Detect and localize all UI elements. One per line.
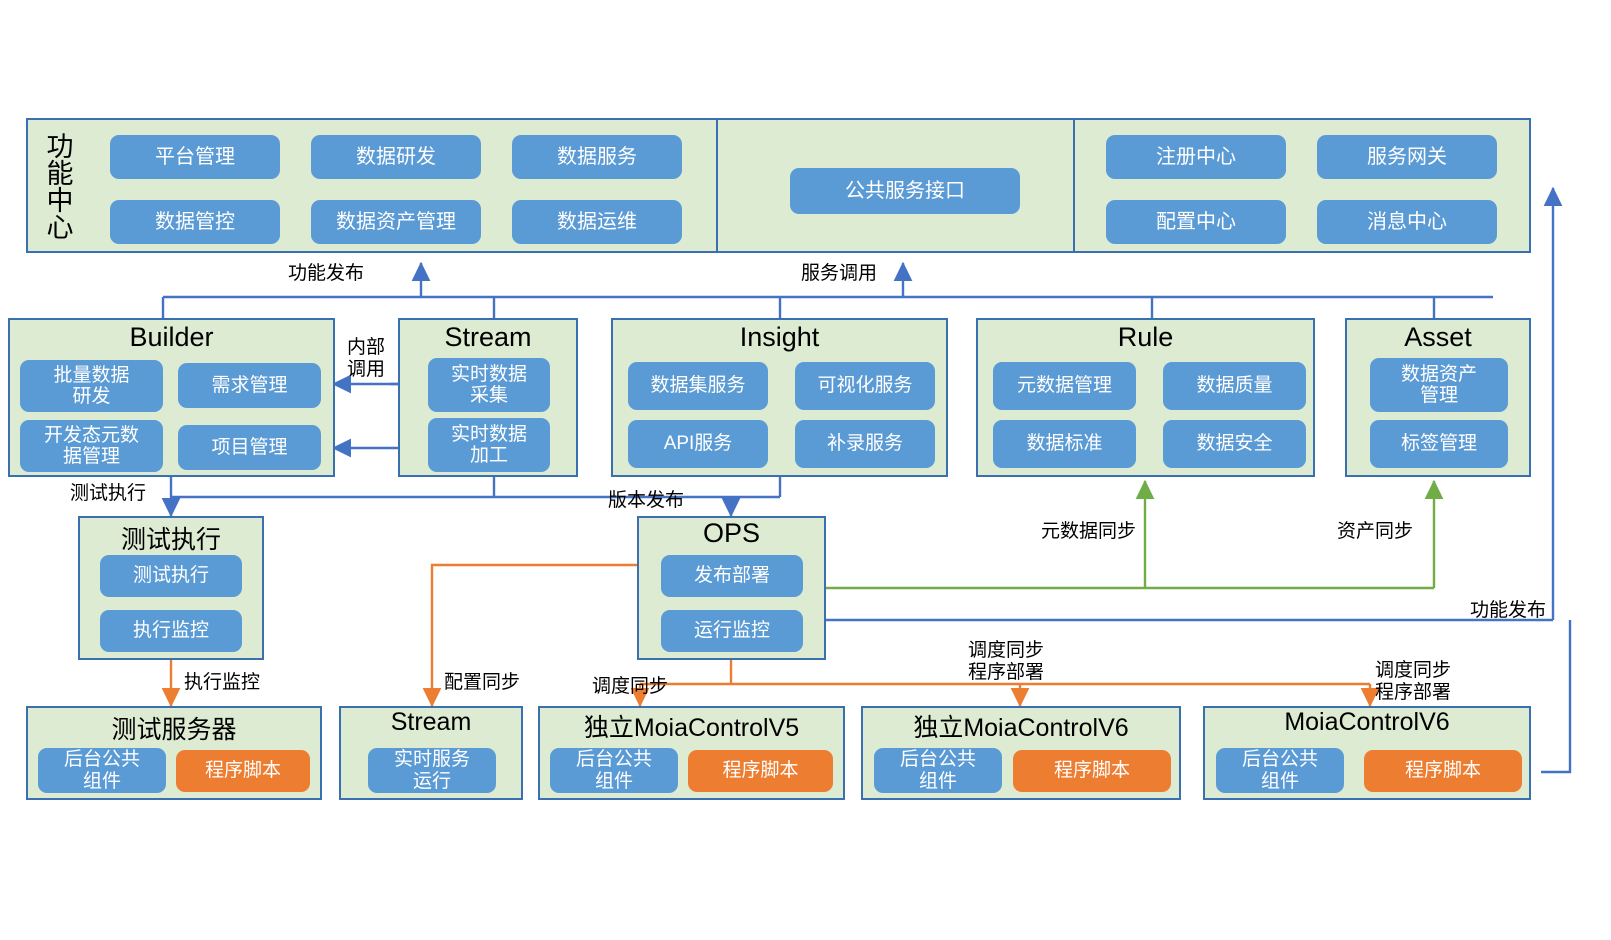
label-schedule-deploy-right: 调度同步 程序部署 [1375, 660, 1451, 705]
ops-chip-release-deploy[interactable]: 发布部署 [661, 555, 803, 597]
label-schedule-sync: 调度同步 [592, 676, 668, 698]
v6s-chip-program-script[interactable]: 程序脚本 [1013, 750, 1171, 792]
insight-chip-dataset-service[interactable]: 数据集服务 [628, 362, 768, 410]
builder-chip-project-mgmt[interactable]: 项目管理 [178, 425, 321, 470]
builder-chip-batch-data-dev[interactable]: 批量数据 研发 [20, 360, 163, 412]
builder-chip-dev-metadata-mgmt[interactable]: 开发态元数 据管理 [20, 420, 163, 472]
band-divider-1 [716, 120, 718, 251]
fc-chip-data-service[interactable]: 数据服务 [512, 135, 682, 179]
label-config-sync: 配置同步 [444, 672, 520, 694]
v5-chip-backend-common[interactable]: 后台公共 组件 [550, 748, 678, 793]
fc-chip-data-dev[interactable]: 数据研发 [311, 135, 481, 179]
test-exec-chip-test-execution[interactable]: 测试执行 [100, 555, 242, 597]
rule-chip-data-standard[interactable]: 数据标准 [993, 420, 1136, 468]
fc-chip-data-control[interactable]: 数据管控 [110, 200, 280, 244]
function-center-side-title: 功 能 中 心 [36, 124, 84, 251]
fc-chip-registry-center[interactable]: 注册中心 [1106, 135, 1286, 179]
builder-chip-requirement-mgmt[interactable]: 需求管理 [178, 363, 321, 408]
platform-insight-title: Insight [611, 322, 948, 353]
architecture-diagram: 功 能 中 心 平台管理 数据研发 数据服务 数据管控 数据资产管理 数据运维 … [0, 0, 1611, 940]
server-standalone-moiacontrolv5-title: 独立MoiaControlV5 [538, 708, 845, 744]
asset-chip-tag-mgmt[interactable]: 标签管理 [1370, 420, 1508, 468]
platform-rule-title: Rule [976, 322, 1315, 353]
stream-server-chip-realtime-service[interactable]: 实时服务 运行 [368, 748, 496, 793]
label-internal-call: 内部 调用 [339, 337, 393, 382]
platform-builder-title: Builder [8, 322, 335, 353]
label-service-call: 服务调用 [801, 263, 877, 285]
block-test-execution-title: 测试执行 [78, 520, 264, 556]
label-function-publish-right: 功能发布 [1470, 600, 1546, 622]
test-server-chip-program-script[interactable]: 程序脚本 [176, 750, 310, 792]
fc-chip-data-asset-mgmt[interactable]: 数据资产管理 [311, 200, 481, 244]
label-metadata-sync: 元数据同步 [1041, 521, 1136, 543]
v6-chip-backend-common[interactable]: 后台公共 组件 [1216, 748, 1344, 793]
label-exec-monitor-edge: 执行监控 [184, 672, 260, 694]
platform-stream-title: Stream [398, 322, 578, 353]
fc-char-4: 心 [47, 215, 74, 242]
stream-chip-realtime-process[interactable]: 实时数据 加工 [428, 418, 550, 472]
stream-chip-realtime-collect[interactable]: 实时数据 采集 [428, 358, 550, 412]
platform-asset-title: Asset [1345, 322, 1531, 353]
v6s-chip-backend-common[interactable]: 后台公共 组件 [874, 748, 1002, 793]
fc-chip-platform-mgmt[interactable]: 平台管理 [110, 135, 280, 179]
server-test-server-title: 测试服务器 [26, 710, 322, 746]
test-server-chip-backend-common[interactable]: 后台公共 组件 [38, 748, 166, 793]
fc-chip-data-ops[interactable]: 数据运维 [512, 200, 682, 244]
asset-chip-data-asset-mgmt[interactable]: 数据资产 管理 [1370, 358, 1508, 412]
label-schedule-deploy-mid: 调度同步 程序部署 [968, 640, 1044, 685]
fc-chip-config-center[interactable]: 配置中心 [1106, 200, 1286, 244]
test-exec-chip-exec-monitor[interactable]: 执行监控 [100, 610, 242, 652]
fc-chip-public-service-api[interactable]: 公共服务接口 [790, 168, 1020, 214]
label-test-execution-edge: 测试执行 [70, 483, 146, 505]
label-asset-sync: 资产同步 [1337, 521, 1413, 543]
insight-chip-visualization-service[interactable]: 可视化服务 [795, 362, 935, 410]
label-function-publish-top: 功能发布 [288, 263, 364, 285]
insight-chip-api-service[interactable]: API服务 [628, 420, 768, 468]
rule-chip-metadata-mgmt[interactable]: 元数据管理 [993, 362, 1136, 410]
server-moiacontrolv6-title: MoiaControlV6 [1203, 708, 1531, 737]
label-version-publish: 版本发布 [608, 490, 684, 512]
rule-chip-data-quality[interactable]: 数据质量 [1163, 362, 1306, 410]
band-divider-2 [1073, 120, 1075, 251]
fc-chip-service-gateway[interactable]: 服务网关 [1317, 135, 1497, 179]
server-stream-title: Stream [339, 708, 523, 737]
ops-chip-runtime-monitor[interactable]: 运行监控 [661, 610, 803, 652]
server-standalone-moiacontrolv6-title: 独立MoiaControlV6 [861, 708, 1181, 744]
insight-chip-supplement-service[interactable]: 补录服务 [795, 420, 935, 468]
fc-char-2: 能 [47, 161, 74, 188]
v5-chip-program-script[interactable]: 程序脚本 [688, 750, 833, 792]
rule-chip-data-security[interactable]: 数据安全 [1163, 420, 1306, 468]
block-ops-title: OPS [637, 518, 826, 549]
fc-char-1: 功 [47, 134, 74, 161]
v6-chip-program-script[interactable]: 程序脚本 [1364, 750, 1522, 792]
fc-chip-message-center[interactable]: 消息中心 [1317, 200, 1497, 244]
fc-char-3: 中 [47, 188, 74, 215]
